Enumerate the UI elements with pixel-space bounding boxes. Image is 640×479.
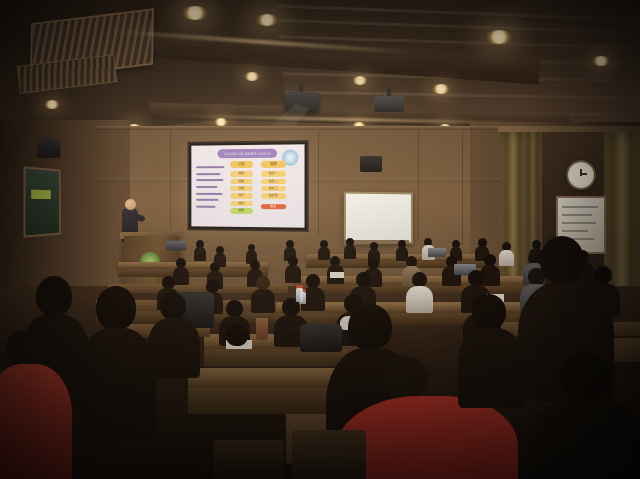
slide-pill: 指标四	[261, 193, 286, 199]
lecture-hall-photo: COVID-19 SARS-CoV-2 分类 指標 预防 控制 诊断 治疗 随访…	[0, 0, 640, 479]
slide-pill: 预防	[230, 171, 253, 176]
chair-back	[214, 440, 284, 479]
slide-pill: 诊断	[230, 186, 253, 191]
wall-panel-seam	[462, 130, 463, 245]
whiteboard	[344, 191, 413, 244]
presenter-laptop	[166, 241, 186, 251]
ceiling-downlight	[44, 100, 60, 109]
notice-board	[23, 166, 60, 238]
slide-pill: 指标三	[261, 186, 286, 191]
projection-screen: COVID-19 SARS-CoV-2 分类 指標 预防 控制 诊断 治疗 随访…	[188, 140, 309, 232]
desk-row	[188, 368, 338, 388]
ceiling-downlight	[486, 30, 512, 44]
slide-title: COVID-19 SARS-CoV-2	[218, 149, 277, 159]
slide-column-header: 分类	[230, 161, 253, 168]
slide-content: COVID-19 SARS-CoV-2 分类 指標 预防 控制 诊断 治疗 随访…	[191, 144, 304, 227]
slide-pill: 控制	[230, 179, 253, 184]
wall-panel-seam	[170, 130, 171, 230]
travel-mug	[256, 318, 268, 340]
chair-back	[292, 430, 366, 479]
slide-pill: 报告	[230, 208, 253, 214]
slide-highlight-pill: 重点	[261, 204, 286, 210]
wall-trim	[96, 126, 500, 130]
ceiling-downlight	[214, 118, 228, 126]
desk-row-front	[118, 269, 268, 277]
wall-speaker	[360, 156, 382, 172]
slide-pill: 治疗	[230, 193, 253, 198]
desk-row-front	[188, 388, 338, 414]
ceiling-downlight	[256, 14, 278, 26]
slide-pill: 指标一	[261, 171, 286, 177]
slide-pill: 指标二	[261, 179, 286, 184]
slide-pill: 随访	[230, 201, 253, 207]
ceiling-projector-secondary	[374, 96, 404, 112]
slide-column-header: 指標	[261, 161, 286, 168]
wall-panel-seam	[418, 130, 419, 240]
ceiling-downlight	[352, 76, 368, 85]
wall-clock	[566, 160, 596, 190]
notebook-page	[330, 272, 344, 278]
presenter-head	[125, 199, 136, 210]
ceiling-downlight	[182, 6, 208, 20]
ceiling-downlight	[244, 72, 260, 81]
wall-speaker	[37, 138, 61, 159]
ceiling-downlight	[432, 84, 450, 94]
water-bottle	[296, 288, 303, 302]
backpack	[300, 324, 342, 352]
curtain-rail	[498, 126, 640, 132]
wall-panel-seam	[318, 130, 319, 235]
ceiling-downlight	[592, 56, 610, 66]
audience-laptop	[428, 248, 446, 257]
